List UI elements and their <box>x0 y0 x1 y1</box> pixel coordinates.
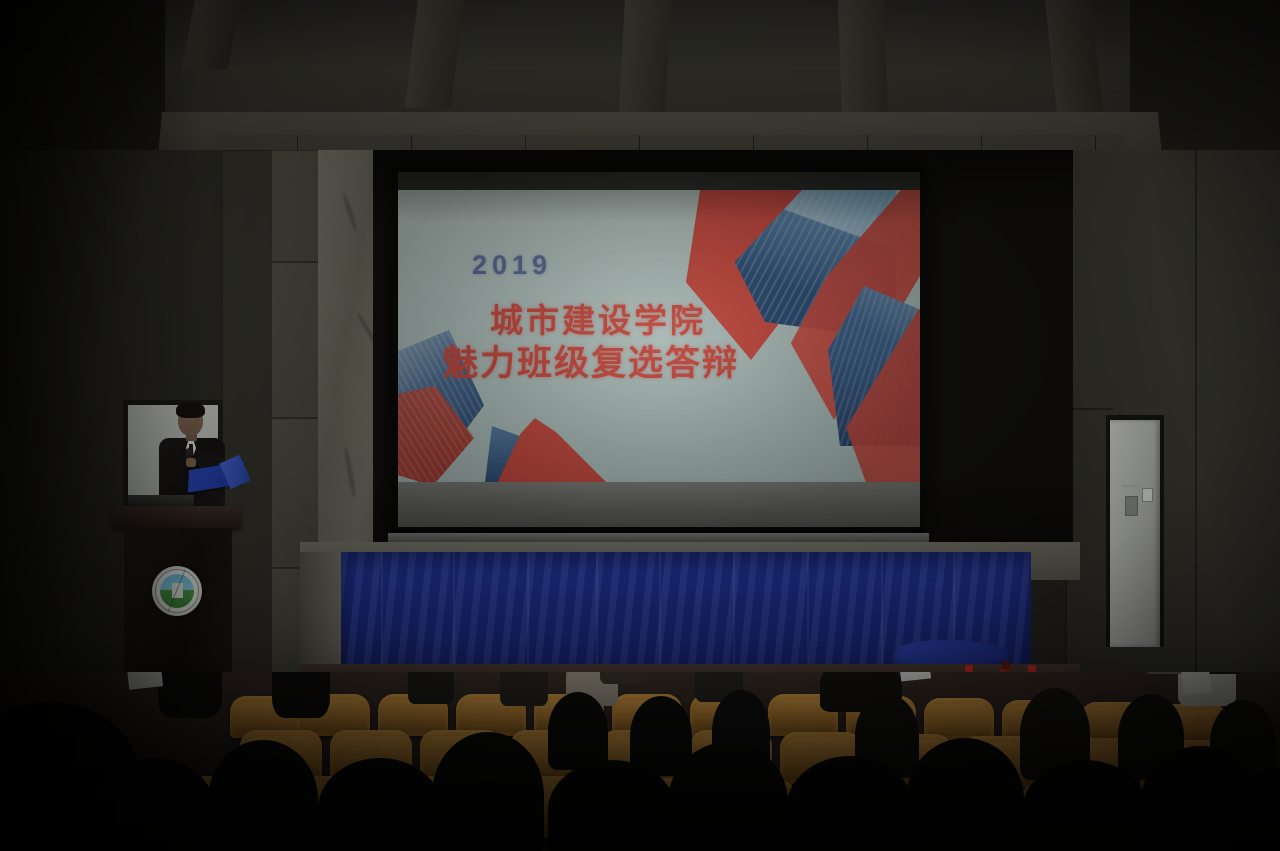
cabinet-marking <box>1122 485 1138 487</box>
ceiling-beam <box>838 0 888 120</box>
audience-member-foreground <box>906 738 1024 851</box>
paper-sheet <box>899 672 931 682</box>
recess-shadow <box>373 150 1073 550</box>
university-seal <box>152 566 202 616</box>
audience-member-foreground <box>208 740 318 851</box>
audience-member-foreground <box>668 742 788 851</box>
speaker <box>150 398 240 510</box>
wall-utility-cabinet[interactable] <box>1110 420 1160 647</box>
speaker-hand <box>186 458 196 467</box>
ceiling-beam <box>1045 0 1103 112</box>
audience-member <box>408 672 454 704</box>
cabinet-label <box>1142 488 1153 502</box>
paper-sheet <box>1181 672 1212 695</box>
audience-member-foreground <box>318 758 442 851</box>
audience-member-foreground <box>786 756 914 851</box>
audience-member-foreground <box>1022 760 1148 851</box>
audience-member-hair <box>272 672 330 718</box>
audience-member-foreground <box>96 758 214 851</box>
auditorium-scene: 2019 城市建设学院 魅力班级复选答辩 <box>0 0 1280 851</box>
ceiling-beam <box>181 0 241 70</box>
ceiling-beam <box>405 0 464 108</box>
right-wall <box>1065 150 1280 680</box>
stage-side-wall <box>300 552 345 672</box>
audience-member-foreground <box>548 760 676 851</box>
audience-member-foreground <box>432 732 544 851</box>
audience-member-head <box>600 672 642 684</box>
audience-member <box>500 672 548 706</box>
audience-member <box>548 692 608 770</box>
cabinet-latch[interactable] <box>1125 496 1138 516</box>
speaker-hair <box>176 402 205 418</box>
audience-area <box>0 672 1280 851</box>
audience-member-hair <box>158 672 222 718</box>
podium-top <box>113 506 241 528</box>
ceiling-beam <box>619 0 671 122</box>
ceiling-shadow-left <box>0 0 165 152</box>
